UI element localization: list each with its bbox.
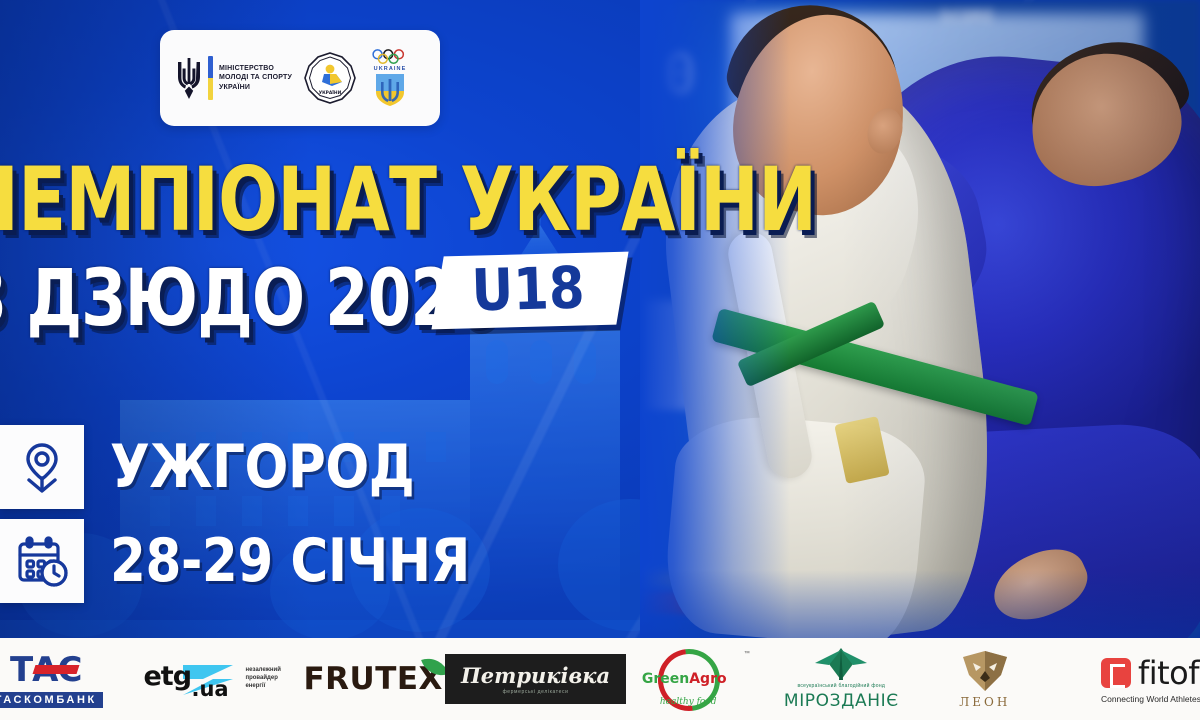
tascombank-subtitle: ТАСКОМБАНК bbox=[0, 692, 103, 708]
etg-tagline-3: енергії bbox=[245, 683, 301, 691]
calendar-clock-icon bbox=[15, 534, 69, 588]
ministry-line-3: УКРАЇНИ bbox=[219, 83, 292, 92]
greenagro-red-part: Agro bbox=[689, 671, 726, 687]
sponsor-mirozdanie[interactable]: всеукраїнський благодійний фонд МІРОЗДАН… bbox=[770, 638, 913, 720]
noc-label: UKRAINE bbox=[374, 66, 407, 72]
tascombank-wordmark: ТАС bbox=[10, 650, 81, 690]
petrykivka-subtitle: фермерські делікатеси bbox=[503, 689, 569, 695]
ukraine-trident-icon bbox=[176, 56, 202, 100]
lion-head-icon bbox=[959, 649, 1011, 693]
judo-championship-poster: 0 0 3:00 SCORE bbox=[0, 0, 1200, 720]
ministry-name: МІНІСТЕРСТВО МОЛОДІ ТА СПОРТУ УКРАЇНИ bbox=[219, 64, 292, 92]
sponsor-greenagro[interactable]: GreenAgro ™ healthy food bbox=[626, 638, 769, 720]
greenagro-trademark: ™ bbox=[744, 651, 750, 657]
greenagro-tagline: healthy food bbox=[660, 697, 717, 707]
organizer-logo-bar: МІНІСТЕРСТВО МОЛОДІ ТА СПОРТУ УКРАЇНИ УК… bbox=[160, 30, 440, 126]
fitofan-tagline: Connecting World Athletes and S bbox=[1101, 694, 1200, 704]
mirozdanie-subtitle: всеукраїнський благодійний фонд bbox=[797, 683, 885, 689]
petrykivka-wordmark: Петриківка bbox=[461, 663, 610, 688]
national-olympic-committee-logo: UKRAINE bbox=[368, 49, 412, 107]
sponsor-strip: ТАС ТАСКОМБАНК etg .ua незалежний провай… bbox=[0, 638, 1200, 720]
mirozdanie-wordmark: МІРОЗДАНІЄ bbox=[784, 691, 899, 711]
ministry-of-youth-and-sports-logo: МІНІСТЕРСТВО МОЛОДІ ТА СПОРТУ УКРАЇНИ bbox=[176, 56, 292, 100]
sponsor-leon[interactable]: ЛЕОН bbox=[913, 638, 1056, 720]
dates-row: 28-29 СІЧНЯ bbox=[0, 519, 529, 603]
location-icon-box bbox=[0, 425, 84, 509]
tascombank-slash-icon bbox=[33, 665, 80, 674]
sponsor-fitofan[interactable]: fitofa Connecting World Athletes and S bbox=[1057, 638, 1200, 720]
headline-line-2: З ДЗЮДО 2026 bbox=[0, 260, 496, 338]
event-info-block: УЖГОРОД 28-29 СІЧНЯ bbox=[0, 425, 529, 603]
fitofan-wordmark: fitofa bbox=[1138, 654, 1200, 692]
sponsor-etg-ua[interactable]: etg .ua незалежний провайдер енергії bbox=[143, 638, 301, 720]
etg-tagline-2: провайдер bbox=[245, 675, 301, 683]
event-dates: 28-29 СІЧНЯ bbox=[110, 531, 470, 591]
ministry-line-1: МІНІСТЕРСТВО bbox=[219, 64, 292, 73]
noc-ukraine-shield-icon bbox=[375, 73, 405, 107]
date-icon-box bbox=[0, 519, 84, 603]
greenagro-green-part: Green bbox=[642, 671, 689, 687]
location-row: УЖГОРОД bbox=[0, 425, 529, 509]
map-pin-icon bbox=[15, 440, 69, 494]
fitofan-chat-icon bbox=[1101, 658, 1131, 688]
leon-wordmark: ЛЕОН bbox=[959, 695, 1010, 709]
age-category-badge: U18 bbox=[431, 252, 628, 330]
ukraine-flag-bar bbox=[208, 56, 213, 100]
olympic-rings-icon bbox=[370, 49, 410, 65]
headline-line-1: ЧЕМПІОНАТ УКРАЇНИ bbox=[0, 158, 816, 242]
greenagro-wordmark: GreenAgro bbox=[642, 671, 727, 687]
sponsor-tascombank[interactable]: ТАС ТАСКОМБАНК bbox=[0, 638, 143, 720]
etg-tagline-1: незалежний bbox=[245, 667, 301, 675]
poster-headline: ЧЕМПІОНАТ УКРАЇНИ З ДЗЮДО 2026 U18 bbox=[0, 158, 1030, 338]
ministry-line-2: МОЛОДІ ТА СПОРТУ bbox=[219, 73, 292, 82]
judo-federation-ukraine-icon: УКРАЇНИ bbox=[304, 52, 356, 104]
etg-domain: .ua bbox=[191, 677, 228, 701]
sponsor-frutex[interactable]: FRUTEX bbox=[301, 638, 444, 720]
age-category-label: U18 bbox=[471, 259, 586, 321]
star-burst-icon bbox=[813, 647, 869, 681]
etg-tagline: незалежний провайдер енергії bbox=[245, 667, 301, 690]
svg-text:УКРАЇНИ: УКРАЇНИ bbox=[319, 89, 342, 96]
etg-wordmark: etg bbox=[143, 661, 191, 692]
event-city: УЖГОРОД bbox=[110, 437, 414, 497]
sponsor-petrykivka[interactable]: Петриківка фермерські делікатеси bbox=[445, 638, 626, 720]
frutex-wordmark: FRUTEX bbox=[303, 661, 442, 697]
